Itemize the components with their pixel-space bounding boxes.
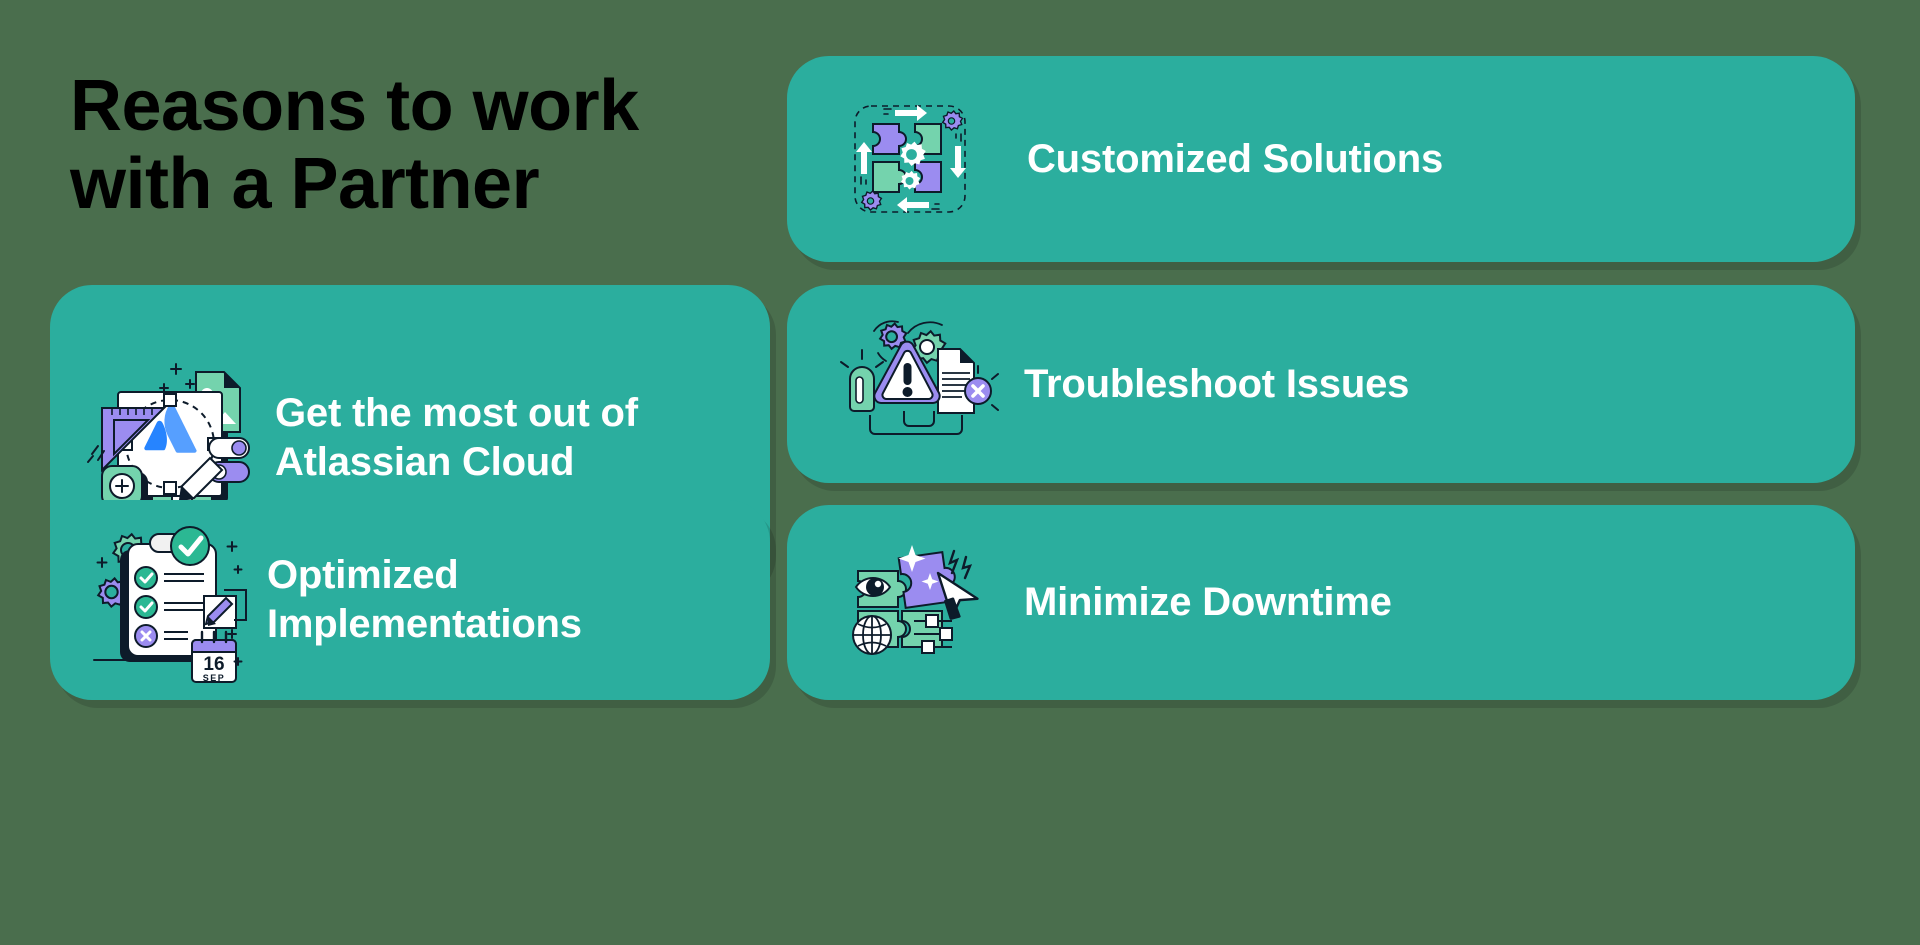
card-label-atlassian-cloud: Get the most out of Atlassian Cloud (275, 389, 638, 487)
puzzle-eye-cursor-icon (842, 535, 992, 670)
card-label-troubleshoot-issues: Troubleshoot Issues (1024, 360, 1409, 409)
card-label-optimized-implementations: Optimized Implementations (267, 551, 582, 649)
poster-canvas: Reasons to work with a Partner (0, 0, 1920, 945)
puzzle-gears-arrows-icon (847, 94, 977, 224)
page-title: Reasons to work with a Partner (70, 68, 890, 224)
calendar-month: SEP (203, 673, 226, 683)
checklist-clipboard-calendar-icon: 16 SEP (80, 518, 245, 683)
atlassian-design-tools-icon (78, 350, 253, 525)
card-label-customized-solutions: Customized Solutions (1027, 135, 1443, 184)
card-minimize-downtime[interactable]: Minimize Downtime (787, 505, 1855, 700)
card-troubleshoot-issues[interactable]: Troubleshoot Issues (787, 285, 1855, 483)
card-optimized-implementations[interactable]: 16 SEP Optimized Implementations (50, 500, 770, 700)
card-customized-solutions[interactable]: Customized Solutions (787, 56, 1855, 262)
warning-siren-gears-icon (842, 319, 992, 449)
card-label-minimize-downtime: Minimize Downtime (1024, 578, 1392, 627)
calendar-day: 16 (203, 654, 224, 675)
